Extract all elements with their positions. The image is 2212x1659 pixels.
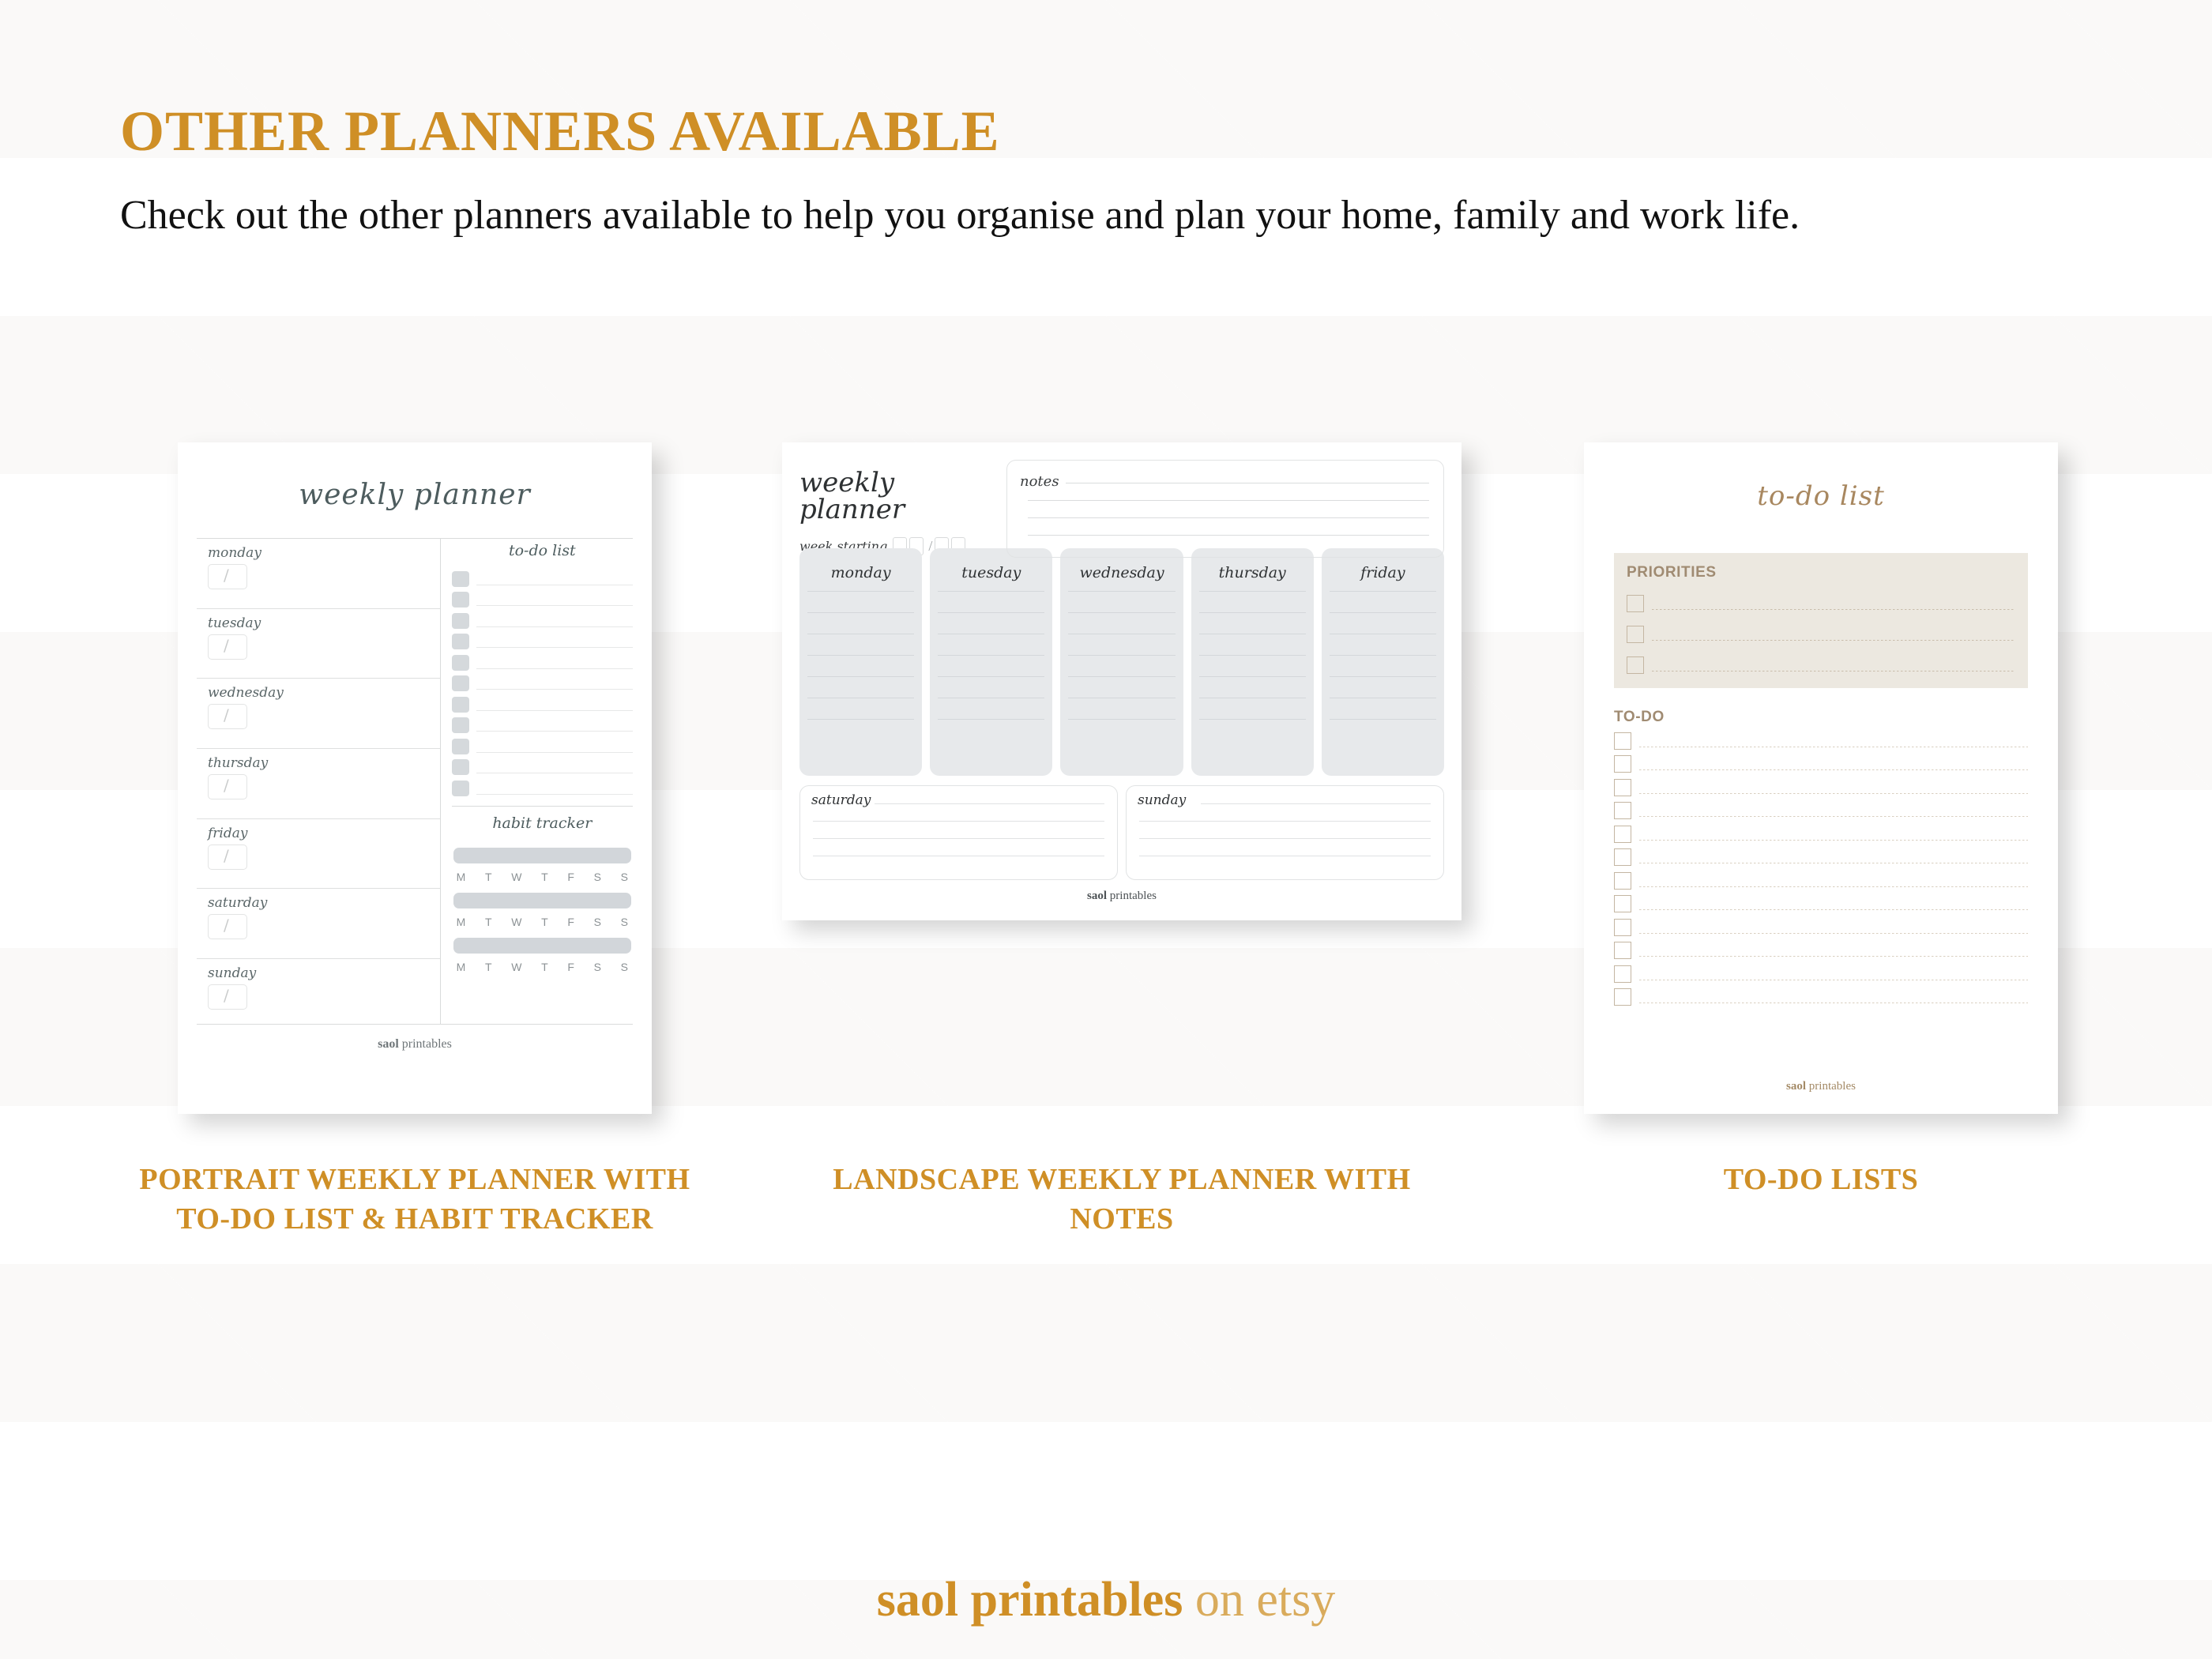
habit-row[interactable]: M T W T F S S — [452, 848, 633, 883]
write-line — [1199, 698, 1306, 698]
todo-row[interactable] — [1614, 912, 2028, 936]
todo-row[interactable] — [452, 775, 633, 796]
checkbox-icon[interactable] — [1614, 755, 1631, 773]
weekend-label: sunday — [1138, 792, 1186, 808]
date-box[interactable] — [208, 984, 247, 1010]
weekday-label: monday — [799, 548, 922, 591]
write-line — [813, 856, 1104, 856]
write-line — [807, 719, 914, 720]
write-line — [1139, 856, 1431, 856]
write-line — [938, 634, 1044, 634]
portrait-planner-sheet[interactable]: weekly planner monday tuesday — [178, 442, 652, 1114]
write-line — [807, 591, 914, 592]
priority-row[interactable] — [1627, 619, 2015, 643]
checkbox-icon[interactable] — [452, 759, 469, 775]
brand-name-light: printables — [1110, 890, 1157, 902]
day-label: tuesday — [197, 609, 440, 631]
write-line — [1199, 591, 1306, 592]
write-line — [1330, 634, 1436, 634]
write-line — [1639, 933, 2028, 934]
day-initial[interactable]: W — [511, 871, 521, 883]
habit-name-bar[interactable] — [453, 848, 631, 863]
write-line — [807, 612, 914, 613]
planner-card-landscape-weekly[interactable]: weekly planner week starting / — [782, 442, 1461, 932]
date-box[interactable] — [208, 914, 247, 939]
checkbox-icon[interactable] — [452, 592, 469, 608]
habit-name-bar[interactable] — [453, 938, 631, 954]
write-line — [476, 773, 633, 773]
brand-name-bold: saol — [1786, 1080, 1806, 1093]
write-line — [1639, 840, 2028, 841]
landscape-title-block: weekly planner week starting / — [799, 460, 997, 548]
todo-row[interactable] — [1614, 983, 2028, 1006]
day-initial[interactable]: S — [594, 961, 601, 973]
note-line — [1028, 535, 1429, 536]
date-box[interactable] — [208, 774, 247, 799]
todo-row[interactable] — [452, 649, 633, 671]
write-line — [938, 676, 1044, 677]
date-box[interactable] — [208, 634, 247, 660]
todo-label: TO-DO — [1614, 709, 2028, 726]
habit-tracker: habit tracker M T W T F S — [452, 811, 633, 973]
write-line — [476, 731, 633, 732]
habit-row[interactable]: M T W T F S S — [452, 938, 633, 973]
day-initial[interactable]: S — [594, 871, 601, 883]
todo-row[interactable] — [452, 629, 633, 650]
note-line — [1066, 483, 1429, 483]
todo-row[interactable] — [1614, 959, 2028, 983]
landscape-planner-header: weekly planner week starting / — [782, 442, 1461, 548]
write-line — [1639, 816, 2028, 817]
day-initial[interactable]: F — [567, 961, 574, 973]
checkbox-icon[interactable] — [1614, 895, 1631, 912]
date-box[interactable] — [208, 704, 247, 729]
write-line — [1652, 609, 2015, 610]
checkbox-icon[interactable] — [1614, 942, 1631, 959]
priority-row[interactable] — [1627, 650, 2015, 674]
todo-row[interactable] — [452, 566, 633, 587]
todo-row[interactable] — [452, 671, 633, 692]
weekend-panels: saturday sunday — [782, 776, 1461, 880]
caption-todo-lists: TO-DO LISTS — [1627, 1160, 2014, 1199]
write-line — [1068, 698, 1175, 698]
write-line — [938, 719, 1044, 720]
brand-name-light: printables — [1809, 1080, 1856, 1093]
todo-sheet-title: to-do list — [1584, 442, 2058, 512]
footer-brand: saol printables on etsy — [0, 1572, 2212, 1628]
brand-name-bold: saol — [1087, 890, 1107, 902]
checkbox-icon[interactable] — [1614, 848, 1631, 866]
page-subtitle: Check out the other planners available t… — [120, 186, 1984, 245]
day-initial[interactable]: M — [457, 961, 466, 973]
write-line — [1639, 747, 2028, 747]
write-line — [1330, 698, 1436, 698]
write-line — [1139, 821, 1431, 822]
checkbox-icon[interactable] — [1614, 872, 1631, 890]
planner-card-portrait-weekly[interactable]: weekly planner monday tuesday — [178, 442, 652, 1138]
note-line — [1028, 500, 1429, 501]
checkbox-icon[interactable] — [1614, 802, 1631, 819]
day-initial[interactable]: W — [511, 916, 521, 928]
day-label: monday — [197, 539, 440, 561]
checkbox-icon[interactable] — [452, 781, 469, 796]
day-initial[interactable]: F — [567, 871, 574, 883]
write-line — [1639, 956, 2028, 957]
write-line — [1199, 719, 1306, 720]
day-row[interactable]: monday — [197, 539, 440, 609]
checkbox-icon[interactable] — [1614, 965, 1631, 983]
day-initial[interactable]: F — [567, 916, 574, 928]
priorities-label: PRIORITIES — [1627, 564, 2015, 581]
day-initial[interactable]: M — [457, 916, 466, 928]
day-row[interactable]: friday — [197, 819, 440, 890]
weekday-column[interactable]: friday — [1322, 548, 1444, 776]
day-label: thursday — [197, 749, 440, 771]
day-initial[interactable]: T — [485, 871, 492, 883]
write-line — [1330, 612, 1436, 613]
write-line — [476, 605, 633, 606]
checkbox-icon[interactable] — [1614, 779, 1631, 796]
write-line — [1201, 803, 1431, 804]
todo-row[interactable] — [1614, 796, 2028, 820]
weekday-column[interactable]: thursday — [1191, 548, 1314, 776]
habit-day-initials: M T W T F S S — [452, 863, 633, 883]
write-line — [1068, 612, 1175, 613]
todo-row[interactable] — [1614, 750, 2028, 773]
header: OTHER PLANNERS AVAILABLE Check out the o… — [120, 103, 2016, 245]
weekday-column[interactable]: monday — [799, 548, 922, 776]
portrait-planner-side-column: to-do list — [441, 539, 633, 1024]
date-box[interactable] — [208, 845, 247, 870]
write-line — [938, 591, 1044, 592]
day-initial[interactable]: T — [541, 916, 548, 928]
landscape-planner-title: weekly planner — [799, 460, 997, 523]
checkbox-icon[interactable] — [1614, 826, 1631, 843]
write-line — [1199, 676, 1306, 677]
day-initial[interactable]: S — [621, 961, 628, 973]
day-initial[interactable]: M — [457, 871, 466, 883]
checkbox-icon[interactable] — [452, 739, 469, 754]
priorities-panel[interactable]: PRIORITIES — [1614, 553, 2028, 688]
day-initial[interactable]: T — [541, 871, 548, 883]
todo-sheet[interactable]: to-do list PRIORITIES TO-DO — [1584, 442, 2058, 1114]
weekend-label: saturday — [811, 792, 871, 808]
write-line — [1068, 591, 1175, 592]
habit-row[interactable]: M T W T F S S — [452, 893, 633, 928]
sheet-brand: saol printables — [782, 880, 1461, 903]
weekday-column[interactable]: wednesday — [1060, 548, 1183, 776]
write-line — [807, 676, 914, 677]
portrait-planner-body: monday tuesday wednesday thursday — [197, 539, 633, 1024]
write-line — [807, 698, 914, 698]
todo-row[interactable] — [1614, 726, 2028, 750]
write-line — [1639, 793, 2028, 794]
page-title: OTHER PLANNERS AVAILABLE — [120, 103, 2016, 160]
todo-row[interactable] — [1614, 936, 2028, 960]
write-line — [1330, 655, 1436, 656]
day-row[interactable]: wednesday — [197, 679, 440, 749]
write-line — [1068, 676, 1175, 677]
day-label: sunday — [197, 959, 440, 981]
day-initial[interactable]: W — [511, 961, 521, 973]
divider — [452, 806, 633, 807]
day-initial[interactable]: T — [541, 961, 548, 973]
checkbox-icon[interactable] — [452, 655, 469, 671]
write-line — [938, 698, 1044, 698]
write-line — [476, 647, 633, 648]
habit-day-initials: M T W T F S S — [452, 908, 633, 928]
write-line — [1068, 655, 1175, 656]
footer-brand-bold: saol printables — [877, 1573, 1183, 1627]
write-line — [1068, 634, 1175, 634]
write-line — [875, 803, 1104, 804]
brand-name-light: printables — [402, 1037, 452, 1051]
todo-list-heading: to-do list — [452, 539, 633, 566]
write-line — [1639, 886, 2028, 887]
todo-row[interactable] — [1614, 866, 2028, 890]
checkbox-icon[interactable] — [1614, 988, 1631, 1006]
caption-portrait-weekly: PORTRAIT WEEKLY PLANNER WITH TO-DO LIST … — [130, 1160, 699, 1239]
todo-row[interactable] — [452, 587, 633, 608]
todo-row[interactable] — [452, 691, 633, 713]
day-row[interactable]: tuesday — [197, 609, 440, 679]
checkbox-icon[interactable] — [1627, 595, 1644, 612]
planner-card-todo-lists[interactable]: to-do list PRIORITIES TO-DO — [1584, 442, 2058, 1138]
checkbox-icon[interactable] — [452, 717, 469, 733]
write-line — [476, 794, 633, 795]
day-initial[interactable]: T — [485, 961, 492, 973]
checkbox-icon[interactable] — [1627, 626, 1644, 643]
notes-label: notes — [1020, 473, 1059, 490]
write-line — [1639, 769, 2028, 770]
habit-day-initials: M T W T F S S — [452, 954, 633, 973]
write-line — [476, 689, 633, 690]
day-label: friday — [197, 819, 440, 841]
write-line — [476, 668, 633, 669]
caption-landscape-weekly: LANDSCAPE WEEKLY PLANNER WITH NOTES — [818, 1160, 1426, 1239]
todo-row[interactable] — [1614, 890, 2028, 913]
todo-row[interactable] — [452, 608, 633, 629]
write-line — [1199, 612, 1306, 613]
planner-card-row: weekly planner monday tuesday — [0, 442, 2212, 1153]
footer-brand-light: on etsy — [1195, 1573, 1335, 1627]
todo-row[interactable] — [452, 754, 633, 776]
day-row[interactable]: saturday — [197, 889, 440, 959]
checkbox-icon[interactable] — [452, 675, 469, 691]
day-row[interactable]: thursday — [197, 749, 440, 819]
write-line — [1639, 980, 2028, 980]
sheet-brand: saol printables — [178, 1025, 652, 1051]
todo-row[interactable] — [452, 713, 633, 734]
write-line — [1330, 719, 1436, 720]
day-label: saturday — [197, 889, 440, 911]
checkbox-icon[interactable] — [452, 697, 469, 713]
brand-name-bold: saol — [378, 1037, 399, 1051]
write-line — [807, 634, 914, 634]
write-line — [938, 655, 1044, 656]
write-line — [1639, 1003, 2028, 1003]
checkbox-icon[interactable] — [1614, 732, 1631, 750]
checkbox-icon[interactable] — [452, 571, 469, 587]
weekend-panel[interactable]: sunday — [1126, 785, 1444, 880]
write-line — [1330, 591, 1436, 592]
day-initial[interactable]: T — [485, 916, 492, 928]
habit-tracker-heading: habit tracker — [452, 811, 633, 838]
write-line — [1652, 640, 2015, 641]
weekday-column[interactable]: tuesday — [930, 548, 1052, 776]
todo-row[interactable] — [1614, 773, 2028, 796]
write-line — [1330, 676, 1436, 677]
write-line — [1199, 634, 1306, 634]
write-line — [1639, 909, 2028, 910]
todo-row[interactable] — [1614, 819, 2028, 843]
write-line — [476, 626, 633, 627]
priority-row[interactable] — [1627, 589, 2015, 612]
slide-page: OTHER PLANNERS AVAILABLE Check out the o… — [0, 0, 2212, 1659]
todo-row[interactable] — [1614, 843, 2028, 867]
write-line — [813, 838, 1104, 839]
landscape-planner-sheet[interactable]: weekly planner week starting / — [782, 442, 1461, 920]
note-line — [1028, 517, 1429, 518]
weekend-panel[interactable]: saturday — [799, 785, 1118, 880]
checkbox-icon[interactable] — [452, 613, 469, 629]
day-initial[interactable]: S — [621, 916, 628, 928]
day-row[interactable]: sunday — [197, 959, 440, 1029]
weekday-columns: monday tuesday — [782, 548, 1461, 776]
day-label: wednesday — [197, 679, 440, 701]
checkbox-icon[interactable] — [1614, 919, 1631, 936]
checkbox-icon[interactable] — [1627, 656, 1644, 674]
write-line — [938, 612, 1044, 613]
day-initial[interactable]: S — [594, 916, 601, 928]
checkbox-icon[interactable] — [452, 634, 469, 649]
day-initial[interactable]: S — [621, 871, 628, 883]
write-line — [807, 655, 914, 656]
habit-name-bar[interactable] — [453, 893, 631, 908]
date-box[interactable] — [208, 564, 247, 589]
write-line — [1068, 719, 1175, 720]
write-line — [1652, 671, 2015, 671]
todo-panel: TO-DO — [1614, 709, 2028, 1006]
write-line — [476, 585, 633, 585]
todo-list — [452, 566, 633, 796]
todo-row[interactable] — [452, 733, 633, 754]
portrait-planner-title: weekly planner — [178, 442, 652, 511]
write-line — [1139, 838, 1431, 839]
write-line — [813, 821, 1104, 822]
write-line — [476, 752, 633, 753]
write-line — [1639, 863, 2028, 863]
sheet-brand: saol printables — [1584, 1080, 2058, 1093]
portrait-planner-days-column: monday tuesday wednesday thursday — [197, 539, 441, 1024]
notes-panel[interactable]: notes — [1006, 460, 1444, 558]
write-line — [476, 710, 633, 711]
write-line — [1199, 655, 1306, 656]
